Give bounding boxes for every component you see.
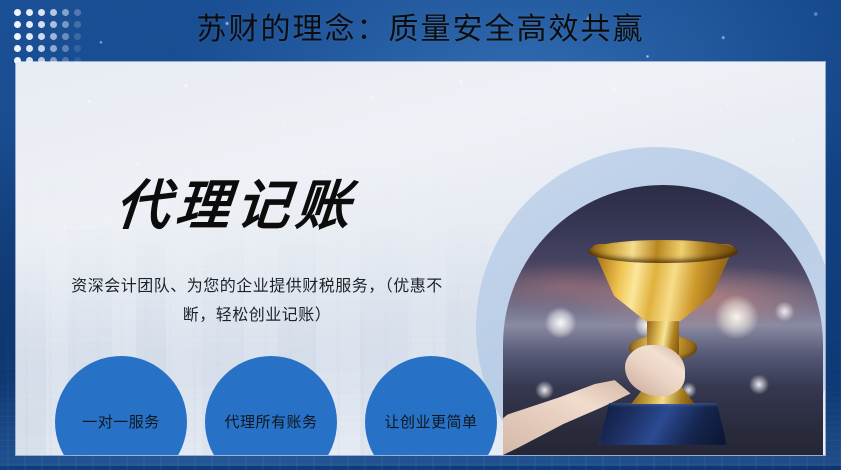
section-heading: 代理记账 <box>113 172 359 238</box>
slide-canvas: 苏财的理念：质量安全高效共赢 代理记账 资深会计团队、为您的企业提供财税服务，（… <box>0 0 841 470</box>
content-panel: 代理记账 资深会计团队、为您的企业提供财税服务，（优惠不断，轻松创业记账） 一对… <box>16 62 825 455</box>
trophy-rim <box>588 240 738 264</box>
trophy-photo <box>503 185 823 455</box>
body-paragraph: 资深会计团队、为您的企业提供财税服务，（优惠不断，轻松创业记账） <box>62 271 452 329</box>
trophy-base <box>599 403 727 445</box>
feature-bubble-2-label: 代理所有账务 <box>224 413 317 431</box>
feature-bubble-3-label: 让创业更简单 <box>384 413 477 431</box>
feature-bubble-1-label: 一对一服务 <box>82 413 160 431</box>
page-title: 苏财的理念：质量安全高效共赢 <box>0 4 841 56</box>
header-bar: 苏财的理念：质量安全高效共赢 <box>0 0 841 62</box>
